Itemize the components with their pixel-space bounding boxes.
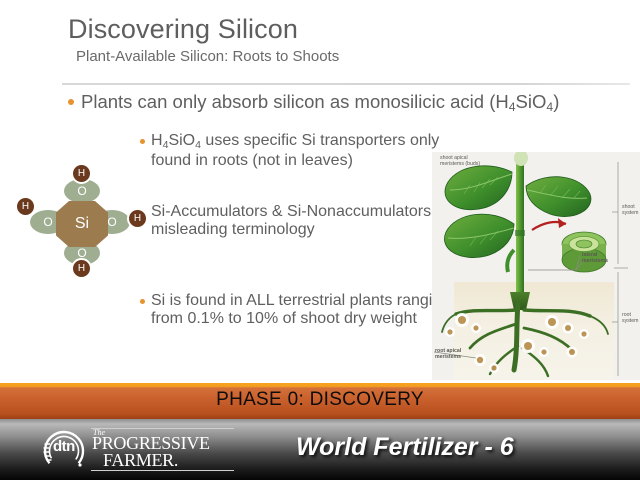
figure-label-shoot-apical: shoot apical meristems (buds): [440, 155, 486, 168]
sub-bullet-terrestrial-text: Si is found in ALL terrestrial plants ra…: [151, 292, 460, 327]
hydrogen-atom-right: H: [127, 208, 148, 229]
dtn-progressive-farmer-logo: dtn The PROGRESSIVE FARMER.: [42, 425, 234, 475]
figure-label-root-system: root system: [622, 312, 640, 325]
bullet-main-text-mid: SiO: [516, 91, 547, 112]
bullet-main-sub-1: 4: [509, 100, 516, 114]
phase-label: PHASE 0: DISCOVERY: [216, 389, 424, 413]
formula-sub-1: 4: [163, 139, 169, 151]
sub-bullet-accumulators-text: Si-Accumulators & Si-Nonaccumulators: mi…: [151, 203, 440, 238]
slide-canvas: Discovering Silicon Plant-Available Sili…: [0, 0, 640, 480]
logo-rule-top: [91, 428, 234, 429]
figure-label-root-apical-meristems: root apical meristems: [435, 348, 479, 361]
logo-farmer-text: FARMER.: [103, 451, 178, 469]
figure-label-shoot-system: shoot system: [622, 204, 640, 217]
silicon-atom-center: Si: [56, 201, 108, 247]
phase-banner: PHASE 0: DISCOVERY: [0, 383, 640, 419]
sub-bullet-accumulators: Si-Accumulators & Si-Nonaccumulators: mi…: [140, 203, 440, 238]
plant-illustration-svg: [432, 152, 640, 380]
bullet-dot-icon: [140, 299, 145, 304]
formula-base-2: SiO: [168, 132, 195, 149]
sub-bullet-transporters: H4SiO4 uses specific Si transporters onl…: [140, 132, 470, 169]
hydrogen-atom-left: H: [15, 196, 36, 217]
hydrogen-atom-top: H: [71, 163, 92, 184]
bullet-dot-icon: [68, 99, 74, 105]
bullet-main-text: Plants can only absorb silicon as monosi…: [81, 90, 559, 116]
footer-title: World Fertilizer - 6: [296, 433, 514, 462]
bullet-main-text-before: Plants can only absorb silicon as monosi…: [81, 91, 509, 112]
bullet-main: Plants can only absorb silicon as monosi…: [68, 90, 559, 116]
bullet-dot-icon: [140, 139, 145, 144]
sub-bullet-transporters-text: H4SiO4 uses specific Si transporters onl…: [151, 132, 470, 169]
formula-sub-2: 4: [195, 139, 201, 151]
page-subtitle: Plant-Available Silicon: Roots to Shoots: [76, 47, 628, 67]
sub-bullet-terrestrial: Si is found in ALL terrestrial plants ra…: [140, 292, 460, 327]
bullet-main-text-after: ): [553, 91, 559, 112]
figure-label-lateral-meristems: lateral meristems: [582, 252, 624, 265]
title-divider: [62, 83, 630, 85]
page-title: Discovering Silicon: [68, 14, 628, 45]
logo-rule-bottom: [91, 470, 234, 471]
hydrogen-atom-bottom: H: [71, 258, 92, 279]
bullet-main-sub-2: 4: [546, 100, 553, 114]
dtn-wordmark: dtn: [53, 438, 75, 455]
formula-base-1: H: [151, 132, 163, 149]
monosilicic-acid-molecule-diagram: O O O O Si H H H H: [14, 163, 150, 281]
title-block: Discovering Silicon Plant-Available Sili…: [68, 14, 628, 67]
plant-anatomy-figure: shoot apical meristems (buds) lateral me…: [432, 152, 640, 380]
